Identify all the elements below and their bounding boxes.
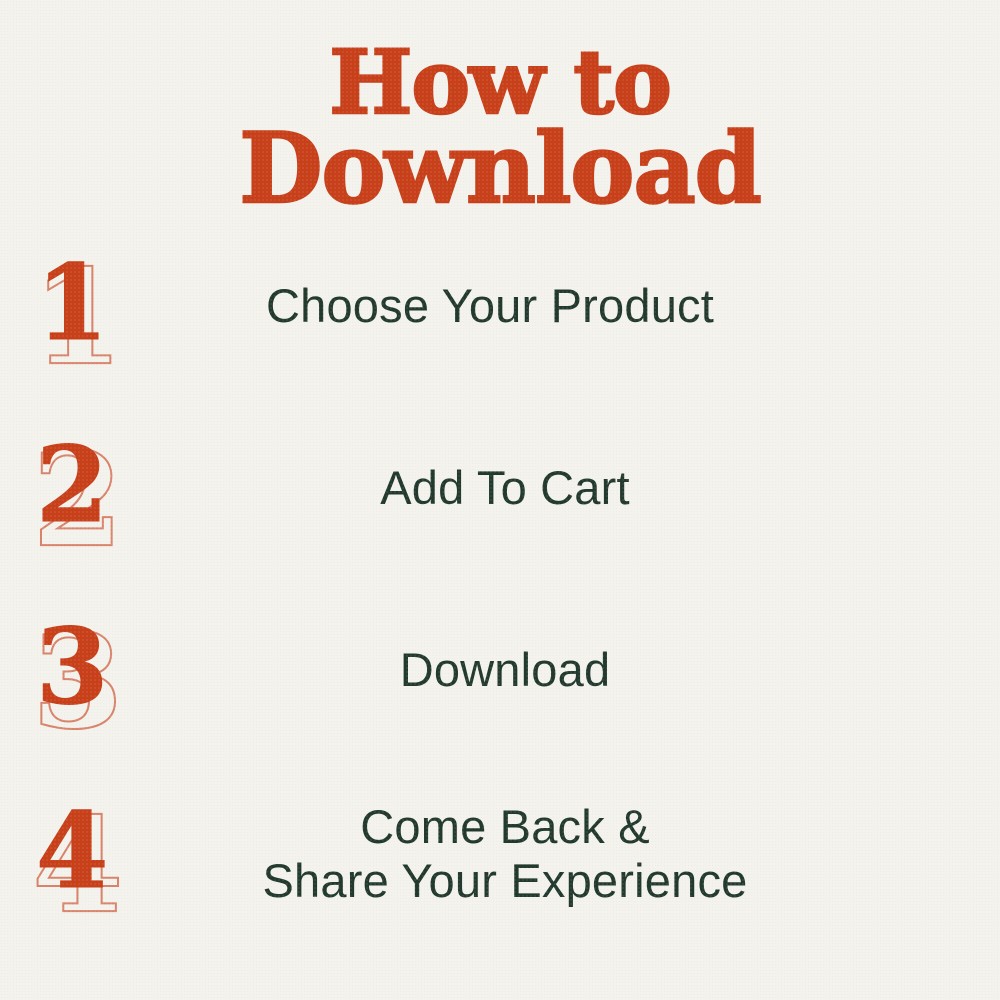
step-label-1: Choose Your Product <box>170 279 1000 333</box>
step-label-line: Share Your Experience <box>170 854 840 908</box>
step-number-solid: 2 <box>36 433 108 537</box>
list-item: 4 4 Come Back & Share Your Experience <box>0 766 1000 942</box>
step-number-3: 3 3 <box>0 605 170 735</box>
step-label-line: Come Back & <box>170 800 840 854</box>
step-number-solid: 3 <box>36 615 108 719</box>
step-label-3: Download <box>170 643 1000 697</box>
steps-list: 1 1 Choose Your Product 2 2 Add To Cart … <box>0 218 1000 918</box>
step-label-4: Come Back & Share Your Experience <box>170 800 1000 907</box>
step-number-4: 4 4 <box>0 789 170 919</box>
step-label-2: Add To Cart <box>170 461 1000 515</box>
step-label-line: Choose Your Product <box>170 279 810 333</box>
step-number-solid: 1 <box>36 251 108 355</box>
step-number-1: 1 1 <box>0 241 170 371</box>
list-item: 2 2 Add To Cart <box>0 400 1000 576</box>
step-label-line: Download <box>170 643 840 697</box>
how-to-download-graphic: How to Download 1 1 Choose Your Product … <box>0 0 1000 1000</box>
list-item: 1 1 Choose Your Product <box>0 218 1000 394</box>
step-number-2: 2 2 <box>0 423 170 553</box>
page-title-line-2: Download <box>0 124 1000 213</box>
list-item: 3 3 Download <box>0 582 1000 758</box>
step-number-solid: 4 <box>36 799 108 903</box>
page-title: How to Download <box>0 42 1000 213</box>
step-label-line: Add To Cart <box>170 461 840 515</box>
